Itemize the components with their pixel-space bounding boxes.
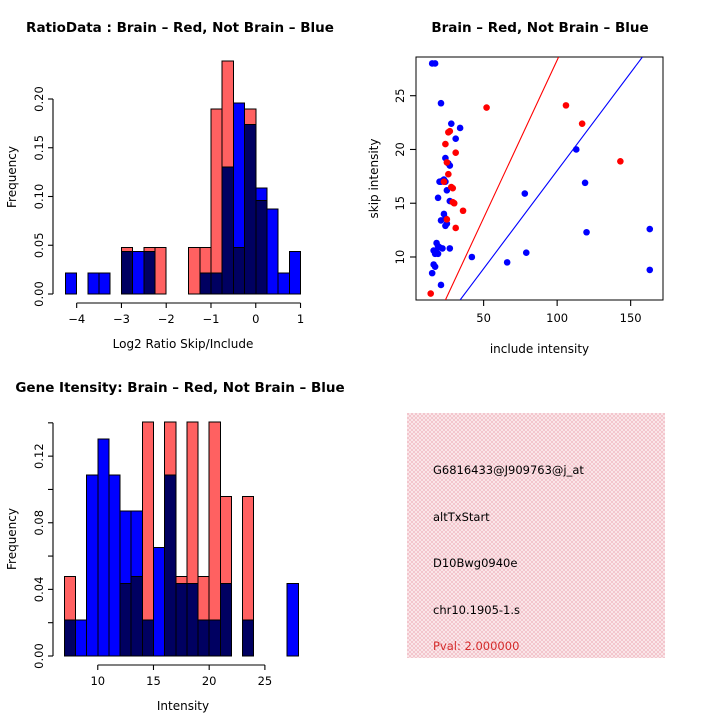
scatter-point [444, 159, 451, 166]
histogram-bar [267, 209, 278, 294]
y-tick-label: 0.08 [32, 510, 46, 536]
y-axis-title: Frequency [5, 508, 19, 570]
scatter-point [445, 129, 452, 136]
histogram-bar [109, 475, 120, 656]
scatter-point [442, 223, 449, 230]
histogram-bar [99, 273, 110, 294]
scatter-point [451, 200, 458, 207]
histogram-bar [289, 252, 300, 294]
scatter-point [582, 180, 589, 187]
y-tick-label: 0.05 [32, 232, 46, 258]
scatter-point [438, 282, 445, 289]
x-tick-label: −4 [68, 312, 85, 326]
y-tick-label: 10 [393, 250, 407, 265]
scatter-point [646, 267, 653, 274]
y-tick-label: 0.04 [32, 577, 46, 603]
x-tick-label: −3 [113, 312, 130, 326]
x-tick-label: 100 [546, 311, 568, 325]
gene-intensity-bars [64, 422, 298, 656]
y-tick-label: 0.00 [32, 643, 46, 669]
x-tick-label: 150 [620, 311, 642, 325]
histogram-bar [87, 475, 98, 656]
scatter-point [583, 229, 590, 236]
panel-ratio-histogram: RatioData : Brain – Red, Not Brain – Blu… [0, 0, 360, 360]
scatter-point [435, 195, 442, 202]
histogram-bar [198, 576, 209, 656]
panel-intensity-scatter: Brain – Red, Not Brain – Blue 1015202550… [360, 0, 720, 360]
histogram-bar [155, 247, 166, 294]
x-tick-label: 20 [202, 674, 217, 688]
histogram-bar [200, 247, 211, 294]
intensity-scatter-plot: 1015202550100150include intensityskip in… [360, 0, 720, 360]
scatter-point [441, 178, 448, 185]
info-line-locus: chr10.1905-1.s [433, 603, 520, 617]
histogram-bar [131, 576, 142, 656]
scatter-point [432, 263, 439, 270]
histogram-bar [133, 252, 144, 294]
panel-gene-intensity-histogram: Gene Itensity: Brain – Red, Not Brain – … [0, 360, 360, 720]
x-tick-label: −1 [203, 312, 220, 326]
histogram-bar [189, 247, 200, 294]
scatter-point [448, 120, 455, 127]
x-axis-title: Intensity [157, 699, 209, 713]
scatter-point [438, 217, 445, 224]
scatter-point [432, 60, 439, 67]
y-tick-label: 25 [393, 88, 407, 103]
scatter-point [452, 225, 459, 232]
scatter-point [452, 135, 459, 142]
x-tick-label: 1 [297, 312, 304, 326]
histogram-bar [287, 584, 298, 656]
x-tick-label: 10 [90, 674, 105, 688]
y-tick-label: 15 [393, 196, 407, 211]
scatter-point [429, 270, 436, 277]
info-line-event-type: altTxStart [433, 510, 490, 524]
scatter-point [469, 254, 476, 261]
histogram-bar [88, 273, 99, 294]
y-axis-title: skip intensity [367, 139, 381, 219]
histogram-bar [256, 201, 267, 294]
info-line-probe-id: G6816433@J909763@j_at [433, 463, 584, 477]
ratio-histogram-bars [65, 61, 300, 294]
histogram-bar [243, 497, 254, 656]
scatter-point [447, 245, 454, 252]
x-tick-label: 0 [252, 312, 259, 326]
info-line-pval: Pval: 2.000000 [433, 639, 519, 653]
histogram-bar [64, 576, 75, 656]
x-tick-label: 50 [476, 311, 491, 325]
histogram-bar [65, 273, 76, 294]
scatter-point [460, 207, 467, 214]
scatter-content [427, 57, 653, 300]
y-tick-label: 20 [393, 142, 407, 157]
scatter-point [521, 190, 528, 197]
x-tick-label: 25 [258, 674, 273, 688]
histogram-bar [165, 422, 176, 656]
y-tick-label: 0.00 [32, 281, 46, 307]
scatter-point [617, 158, 624, 165]
histogram-bar [222, 61, 233, 294]
x-tick-label: 15 [146, 674, 161, 688]
histogram-bar [211, 109, 222, 294]
histogram-bar [220, 497, 231, 656]
scatter-point [452, 149, 459, 156]
histogram-bar [75, 620, 86, 656]
histogram-bar [121, 247, 132, 294]
info-line-gene-symbol: D10Bwg0940e [433, 556, 517, 570]
x-tick-label: −2 [158, 312, 175, 326]
scatter-plot-frame [416, 57, 663, 300]
histogram-bar [144, 247, 155, 294]
brain-fit-line [445, 57, 558, 300]
scatter-point [427, 290, 434, 297]
histogram-bar [142, 422, 153, 656]
histogram-bar [98, 439, 109, 656]
histogram-bar [209, 422, 220, 656]
histogram-bar [120, 584, 131, 656]
figure-canvas: RatioData : Brain – Red, Not Brain – Blu… [0, 0, 720, 720]
gene-info-box: G6816433@J909763@j_at altTxStart D10Bwg0… [407, 413, 665, 658]
histogram-bar [153, 547, 164, 656]
histogram-bar [278, 273, 289, 294]
scatter-point [435, 250, 442, 257]
histogram-bar [233, 247, 244, 294]
scatter-point [483, 104, 490, 111]
scatter-point [444, 216, 451, 223]
scatter-point [573, 146, 580, 153]
y-tick-label: 0.10 [32, 184, 46, 210]
gene-intensity-histogram-plot: 0.000.040.080.1210152025IntensityFrequen… [0, 360, 360, 720]
histogram-bar [187, 422, 198, 656]
scatter-point [523, 249, 530, 256]
y-tick-label: 0.12 [32, 443, 46, 469]
scatter-point [504, 259, 511, 266]
panel-gene-info: G6816433@J909763@j_at altTxStart D10Bwg0… [360, 360, 720, 720]
scatter-point [438, 100, 445, 107]
scatter-point [646, 226, 653, 233]
scatter-point [445, 171, 452, 178]
histogram-bar [176, 576, 187, 656]
histogram-bar [245, 109, 256, 294]
scatter-point [579, 120, 586, 127]
scatter-point [442, 141, 449, 148]
y-tick-label: 0.20 [32, 86, 46, 112]
scatter-point [439, 245, 446, 252]
x-axis-title: Log2 Ratio Skip/Include [113, 337, 254, 351]
x-axis-title: include intensity [490, 342, 589, 356]
scatter-point [563, 102, 570, 109]
scatter-point [457, 125, 464, 132]
y-axis-title: Frequency [5, 146, 19, 208]
scatter-point [449, 185, 456, 192]
y-tick-label: 0.15 [32, 135, 46, 161]
not-brain-fit-line [460, 57, 642, 300]
ratio-histogram-plot: 0.000.050.100.150.20−4−3−2−101Log2 Ratio… [0, 0, 360, 360]
